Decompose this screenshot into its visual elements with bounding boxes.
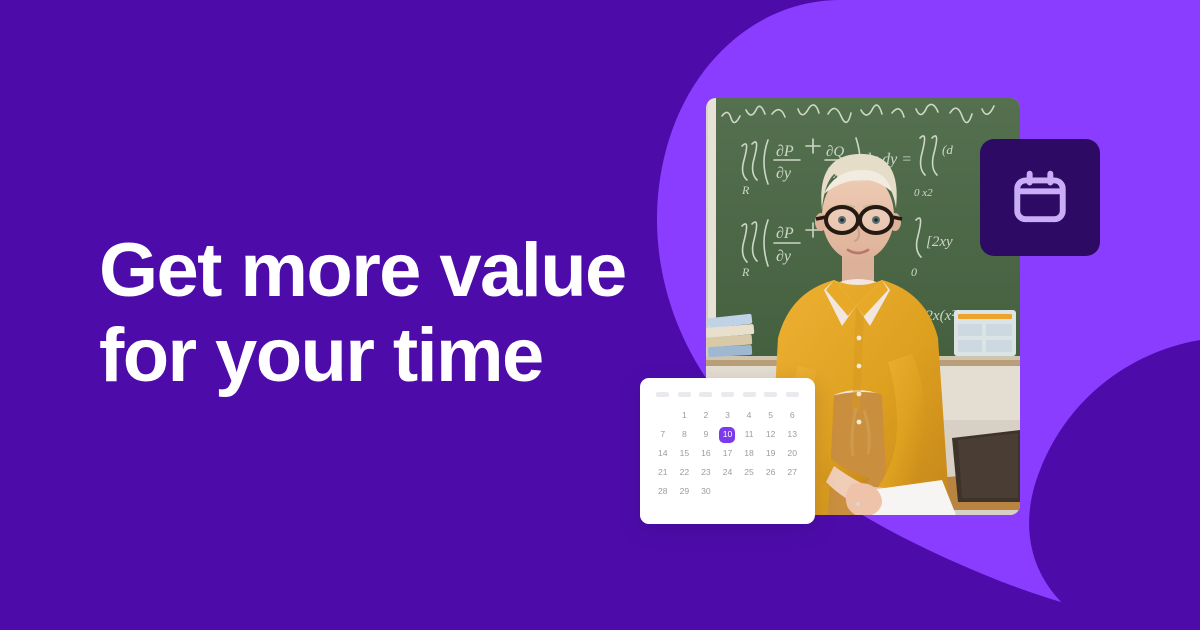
weekday-placeholder [656,392,669,397]
calendar-day[interactable]: 2 [695,406,717,425]
calendar-badge [980,139,1100,256]
calendar-widget[interactable]: 1234567891011121314151617181920212223242… [640,378,815,524]
calendar-day[interactable]: 11 [738,425,760,444]
calendar-day[interactable]: 14 [652,444,674,463]
calendar-day[interactable]: 17 [717,444,739,463]
calendar-day[interactable]: 21 [652,463,674,482]
weekday-placeholder [678,392,691,397]
svg-text:∂y: ∂y [776,165,792,182]
svg-text:0 x2: 0 x2 [914,187,933,199]
calendar-day[interactable]: 7 [652,425,674,444]
calendar-day[interactable]: 23 [695,463,717,482]
calendar-day[interactable]: 13 [781,425,803,444]
calendar-day[interactable]: 29 [674,482,696,501]
weekday-placeholder [743,392,756,397]
calendar-day[interactable]: 9 [695,425,717,444]
calendar-day[interactable]: 30 [695,482,717,501]
calendar-day[interactable]: 28 [652,482,674,501]
calendar-day[interactable]: 20 [781,444,803,463]
svg-text:R: R [741,183,750,197]
svg-text:0: 0 [911,265,917,279]
calendar-day[interactable]: 22 [674,463,696,482]
svg-text:[2xy: [2xy [926,234,953,250]
hero-banner: Get more value for your time [0,0,1200,630]
weekday-placeholder [699,392,712,397]
calendar-day[interactable]: 3 [717,406,739,425]
calendar-day[interactable]: 15 [674,444,696,463]
calendar-day[interactable]: 1 [674,406,696,425]
weekday-placeholder [786,392,799,397]
calendar-weekday-header [652,392,803,397]
calendar-day-label: 10 [719,427,735,443]
calendar-day[interactable]: 4 [738,406,760,425]
svg-text:∂y: ∂y [776,248,792,265]
svg-text:∂P: ∂P [776,143,794,160]
calendar-day-selected[interactable]: 10 [717,425,739,444]
calendar-day-grid[interactable]: 1234567891011121314151617181920212223242… [652,406,803,501]
calendar-day[interactable]: 8 [674,425,696,444]
supply-tray [954,310,1016,356]
svg-text:R: R [741,265,750,279]
calendar-day[interactable]: 25 [738,463,760,482]
svg-text:∂P: ∂P [776,225,794,242]
calendar-day[interactable]: 5 [760,406,782,425]
calendar-icon [1009,167,1071,229]
calendar-day[interactable]: 16 [695,444,717,463]
page-title: Get more value for your time [99,228,719,398]
calendar-day[interactable]: 12 [760,425,782,444]
calendar-day[interactable]: 19 [760,444,782,463]
books-stack [706,314,754,357]
calendar-day[interactable]: 27 [781,463,803,482]
calendar-day[interactable]: 18 [738,444,760,463]
weekday-placeholder [721,392,734,397]
calendar-day[interactable]: 6 [781,406,803,425]
calendar-day[interactable]: 26 [760,463,782,482]
weekday-placeholder [764,392,777,397]
svg-text:(d: (d [942,142,953,157]
calendar-day[interactable]: 24 [717,463,739,482]
